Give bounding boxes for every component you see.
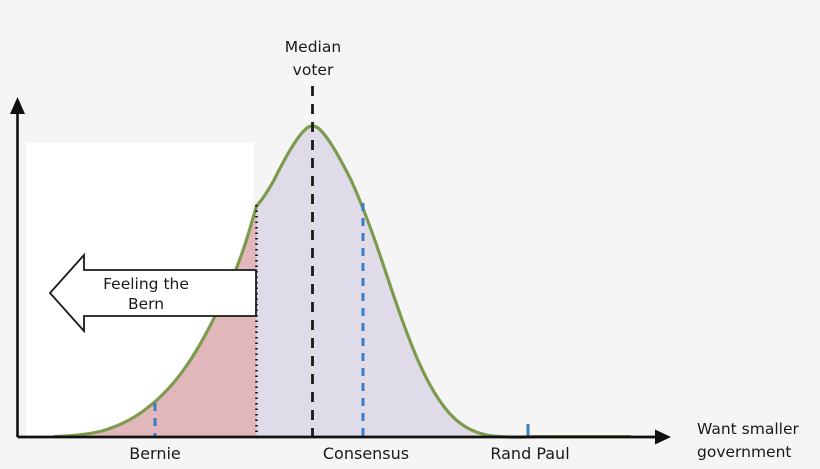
x-axis-title-line2: government [697, 443, 792, 461]
chart-figure: Feeling the Bern Median voter Bernie Con… [0, 0, 820, 469]
bern-arrow-label-line2: Bern [128, 295, 164, 313]
tick-label-consensus: Consensus [323, 444, 409, 463]
median-voter-label-line2: voter [293, 61, 334, 79]
tick-label-rand-paul: Rand Paul [490, 444, 569, 463]
bern-arrow-label-line1: Feeling the [103, 275, 189, 293]
x-axis-title-line1: Want smaller [697, 420, 799, 438]
median-voter-label-line1: Median [285, 38, 341, 56]
tick-label-bernie: Bernie [129, 444, 181, 463]
distribution-chart: Feeling the Bern Median voter Bernie Con… [0, 0, 820, 469]
